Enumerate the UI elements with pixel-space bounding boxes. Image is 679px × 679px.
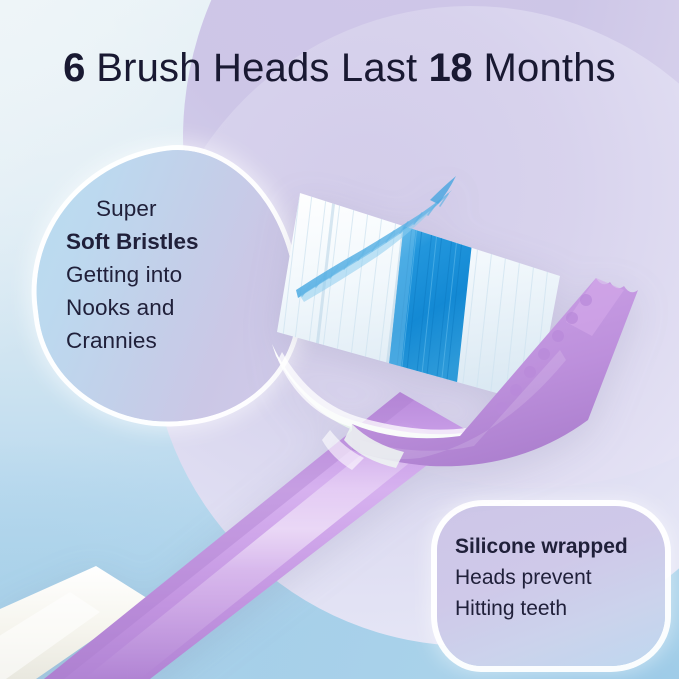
- left-callout-line-4: Nooks and: [66, 291, 286, 324]
- headline-count-months: 18: [429, 46, 473, 90]
- right-callout-line-3: Hitting teeth: [455, 593, 670, 624]
- left-callout-line-5: Crannies: [66, 324, 286, 357]
- headline-end-text: Months: [484, 46, 616, 90]
- page-title: 6 Brush Heads Last 18 Months: [0, 44, 679, 92]
- headline-count-heads: 6: [63, 46, 85, 90]
- left-callout-line-3: Getting into: [66, 258, 286, 291]
- right-callout-text: Silicone wrapped Heads prevent Hitting t…: [455, 531, 670, 624]
- left-callout-text: Super Soft Bristles Getting into Nooks a…: [66, 192, 286, 357]
- left-callout-line-2: Soft Bristles: [66, 225, 286, 258]
- headline-mid-text: Brush Heads Last: [96, 46, 417, 90]
- promo-image: Super Soft Bristles Getting into Nooks a…: [0, 0, 679, 679]
- left-callout-line-1: Super: [66, 192, 286, 225]
- right-callout-line-1: Silicone wrapped: [455, 531, 670, 562]
- right-callout-line-2: Heads prevent: [455, 562, 670, 593]
